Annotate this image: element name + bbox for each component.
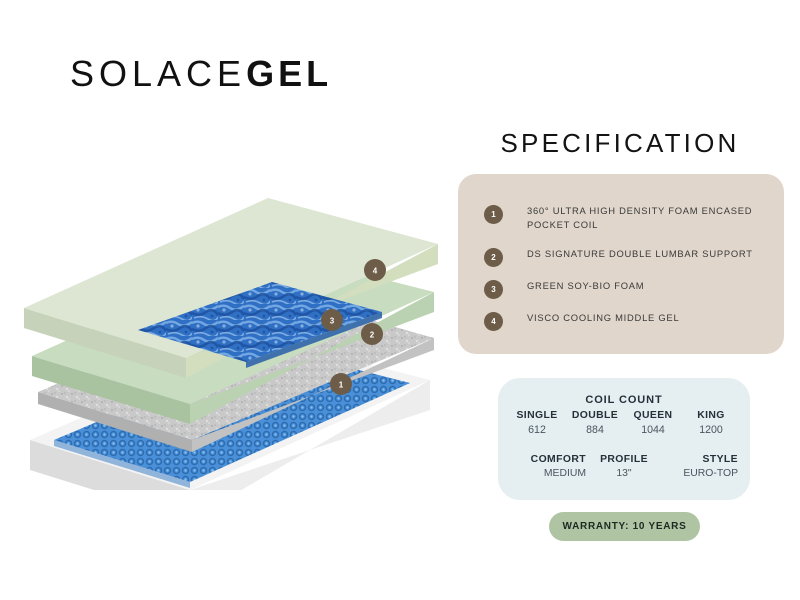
attribute-value-style: EURO-TOP <box>662 468 738 479</box>
svg-text:3: 3 <box>330 317 335 326</box>
specification-heading: SPECIFICATION <box>460 128 780 159</box>
svg-text:2: 2 <box>370 331 375 340</box>
diagram-badge-3: 3 <box>321 309 343 331</box>
diagram-badge-4: 4 <box>364 259 386 281</box>
attribute-style: STYLE EURO-TOP <box>662 454 738 479</box>
mattress-layers-diagram: 4 3 2 1 <box>10 160 450 490</box>
attribute-comfort: COMFORT MEDIUM <box>510 454 586 479</box>
spec-badge-1: 1 <box>484 205 503 224</box>
infographic-canvas: SOLACEGEL <box>0 0 800 600</box>
spec-label-3: GREEN SOY-BIO FOAM <box>527 279 644 293</box>
attribute-label-comfort: COMFORT <box>510 454 586 465</box>
spec-label-4: VISCO COOLING MIDDLE GEL <box>527 311 679 325</box>
coil-size-grid: SINGLE 612 DOUBLE 884 QUEEN 1044 KING 12… <box>508 410 740 436</box>
coil-size-label-queen: QUEEN <box>624 410 682 421</box>
spec-item-1: 1 360° ULTRA HIGH DENSITY FOAM ENCASED P… <box>484 204 766 232</box>
spec-badge-2: 2 <box>484 248 503 267</box>
coil-size-queen: QUEEN 1044 <box>624 410 682 436</box>
coil-size-double: DOUBLE 884 <box>566 410 624 436</box>
specification-panel: 1 360° ULTRA HIGH DENSITY FOAM ENCASED P… <box>458 174 784 354</box>
spec-badge-4: 4 <box>484 312 503 331</box>
warranty-badge: WARRANTY: 10 YEARS <box>549 512 700 541</box>
coil-size-label-double: DOUBLE <box>566 410 624 421</box>
spec-label-1: 360° ULTRA HIGH DENSITY FOAM ENCASED POC… <box>527 204 766 232</box>
svg-text:4: 4 <box>373 267 378 276</box>
attribute-label-profile: PROFILE <box>586 454 662 465</box>
title-bold-part: GEL <box>246 53 332 94</box>
spec-item-3: 3 GREEN SOY-BIO FOAM <box>484 279 766 299</box>
coil-size-value-double: 884 <box>566 424 624 436</box>
svg-text:1: 1 <box>339 381 344 390</box>
diagram-badge-2: 2 <box>361 323 383 345</box>
coil-size-single: SINGLE 612 <box>508 410 566 436</box>
coil-size-value-single: 612 <box>508 424 566 436</box>
coil-size-label-single: SINGLE <box>508 410 566 421</box>
coil-count-title: COIL COUNT <box>498 394 750 406</box>
coil-count-panel: COIL COUNT SINGLE 612 DOUBLE 884 QUEEN 1… <box>498 378 750 500</box>
spec-item-2: 2 DS SIGNATURE DOUBLE LUMBAR SUPPORT <box>484 247 766 267</box>
coil-size-value-king: 1200 <box>682 424 740 436</box>
spec-item-4: 4 VISCO COOLING MIDDLE GEL <box>484 311 766 331</box>
attribute-value-profile: 13" <box>586 468 662 479</box>
attribute-profile: PROFILE 13" <box>586 454 662 479</box>
page-title: SOLACEGEL <box>70 52 332 96</box>
coil-size-label-king: KING <box>682 410 740 421</box>
spec-badge-3: 3 <box>484 280 503 299</box>
attribute-label-style: STYLE <box>662 454 738 465</box>
coil-size-value-queen: 1044 <box>624 424 682 436</box>
spec-label-2: DS SIGNATURE DOUBLE LUMBAR SUPPORT <box>527 247 753 261</box>
title-light-part: SOLACE <box>70 53 246 94</box>
diagram-badge-1: 1 <box>330 373 352 395</box>
coil-size-king: KING 1200 <box>682 410 740 436</box>
attribute-value-comfort: MEDIUM <box>510 468 586 479</box>
attribute-grid: COMFORT MEDIUM PROFILE 13" STYLE EURO-TO… <box>510 454 738 479</box>
